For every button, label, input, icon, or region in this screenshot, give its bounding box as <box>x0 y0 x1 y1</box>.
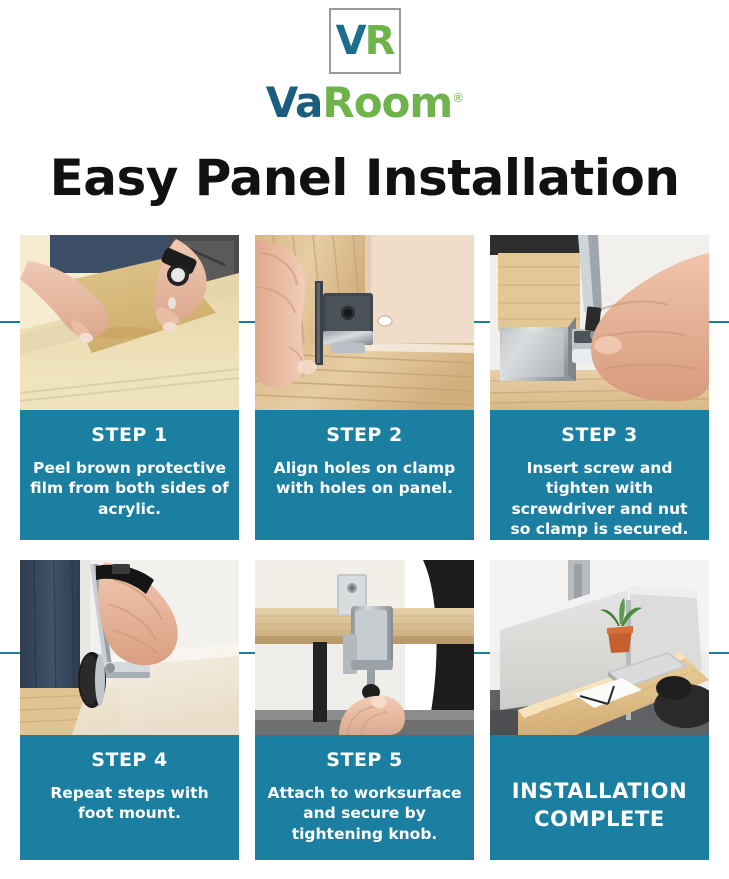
step-title-5: STEP 5 <box>265 749 464 771</box>
page-title: Easy Panel Installation <box>0 152 729 205</box>
step-title-4: STEP 4 <box>30 749 229 771</box>
step-caption-4: STEP 4 Repeat steps with foot mount. <box>20 735 239 860</box>
step-title-3: STEP 3 <box>500 424 699 446</box>
step-card-1: STEP 1 Peel brown protective film from b… <box>20 235 239 540</box>
step-body-1: Peel brown protective film from both sid… <box>30 458 229 519</box>
step-card-3: STEP 3 Insert screw and tighten with scr… <box>490 235 709 540</box>
step-caption-5: STEP 5 Attach to worksurface and secure … <box>255 735 474 860</box>
step-card-4: STEP 4 Repeat steps with foot mount. <box>20 560 239 860</box>
logo-letter-v: V <box>336 18 365 64</box>
logo-mark-letters: VR <box>336 21 394 61</box>
step-title-1: STEP 1 <box>30 424 229 446</box>
brand-wordmark: VaRoom® <box>266 82 463 124</box>
wordmark-va: Va <box>266 78 323 127</box>
step-card-6: INSTALLATION COMPLETE <box>490 560 709 860</box>
step-body-3: Insert screw and tighten with screwdrive… <box>500 458 699 540</box>
step-body-5: Attach to worksurface and secure by tigh… <box>265 783 464 844</box>
step-photo-4 <box>20 560 239 735</box>
logo-mark-icon: VR <box>329 8 401 74</box>
registered-trademark-icon: ® <box>452 91 463 105</box>
step-card-2: STEP 2 Align holes on clamp with holes o… <box>255 235 474 540</box>
step-caption-1: STEP 1 Peel brown protective film from b… <box>20 410 239 540</box>
step-photo-1 <box>20 235 239 410</box>
logo-letter-r: R <box>365 18 394 64</box>
step-caption-6: INSTALLATION COMPLETE <box>490 735 709 860</box>
step-photo-2 <box>255 235 474 410</box>
step-photo-3 <box>490 235 709 410</box>
step-body-4: Repeat steps with foot mount. <box>30 783 229 824</box>
wordmark-room: Room <box>322 78 452 127</box>
step-photo-6 <box>490 560 709 735</box>
installation-steps-grid: STEP 1 Peel brown protective film from b… <box>20 235 709 860</box>
step-card-5: STEP 5 Attach to worksurface and secure … <box>255 560 474 860</box>
step-body-2: Align holes on clamp with holes on panel… <box>265 458 464 499</box>
step-title-2: STEP 2 <box>265 424 464 446</box>
brand-logo: VR VaRoom® <box>0 8 729 124</box>
step-photo-5 <box>255 560 474 735</box>
installation-complete-title: INSTALLATION COMPLETE <box>500 749 699 834</box>
step-caption-3: STEP 3 Insert screw and tighten with scr… <box>490 410 709 540</box>
page-header: VR VaRoom® Easy Panel Installation <box>0 0 729 205</box>
step-caption-2: STEP 2 Align holes on clamp with holes o… <box>255 410 474 540</box>
